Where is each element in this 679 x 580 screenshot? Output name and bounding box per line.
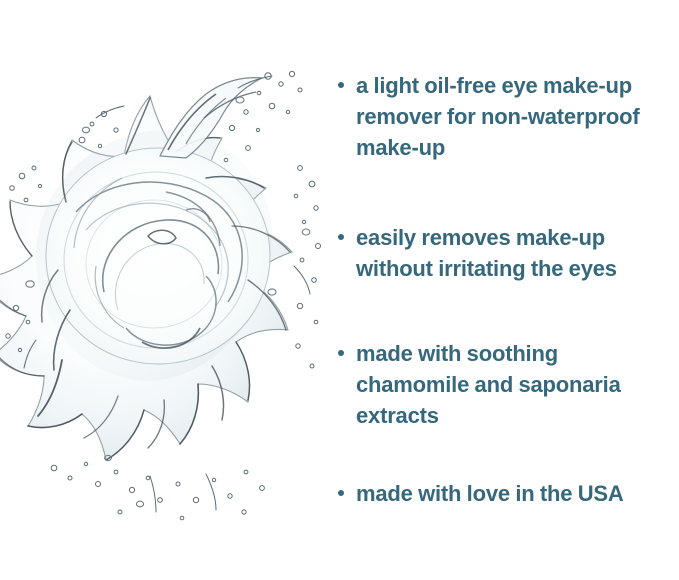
benefit-text: made with love in the USA bbox=[356, 478, 673, 509]
bullet-point-icon bbox=[338, 478, 356, 496]
bullet-point-icon bbox=[338, 222, 356, 240]
bullet-point-icon bbox=[338, 70, 356, 88]
benefit-item: a light oil-free eye make-up remover for… bbox=[338, 70, 673, 163]
product-feature-image: a light oil-free eye make-up remover for… bbox=[0, 0, 679, 580]
water-splash-image bbox=[0, 60, 330, 530]
benefit-text: easily removes make-up without irritatin… bbox=[356, 222, 673, 284]
bullet-point-icon bbox=[338, 338, 356, 356]
benefit-item: made with soothing chamomile and saponar… bbox=[338, 338, 673, 431]
benefit-item: made with love in the USA bbox=[338, 478, 673, 509]
benefit-text: a light oil-free eye make-up remover for… bbox=[356, 70, 673, 163]
splash-inner-vortex bbox=[46, 148, 270, 364]
product-benefits-list: a light oil-free eye make-up remover for… bbox=[338, 62, 673, 522]
benefit-text: made with soothing chamomile and saponar… bbox=[356, 338, 673, 431]
benefit-item: easily removes make-up without irritatin… bbox=[338, 222, 673, 284]
